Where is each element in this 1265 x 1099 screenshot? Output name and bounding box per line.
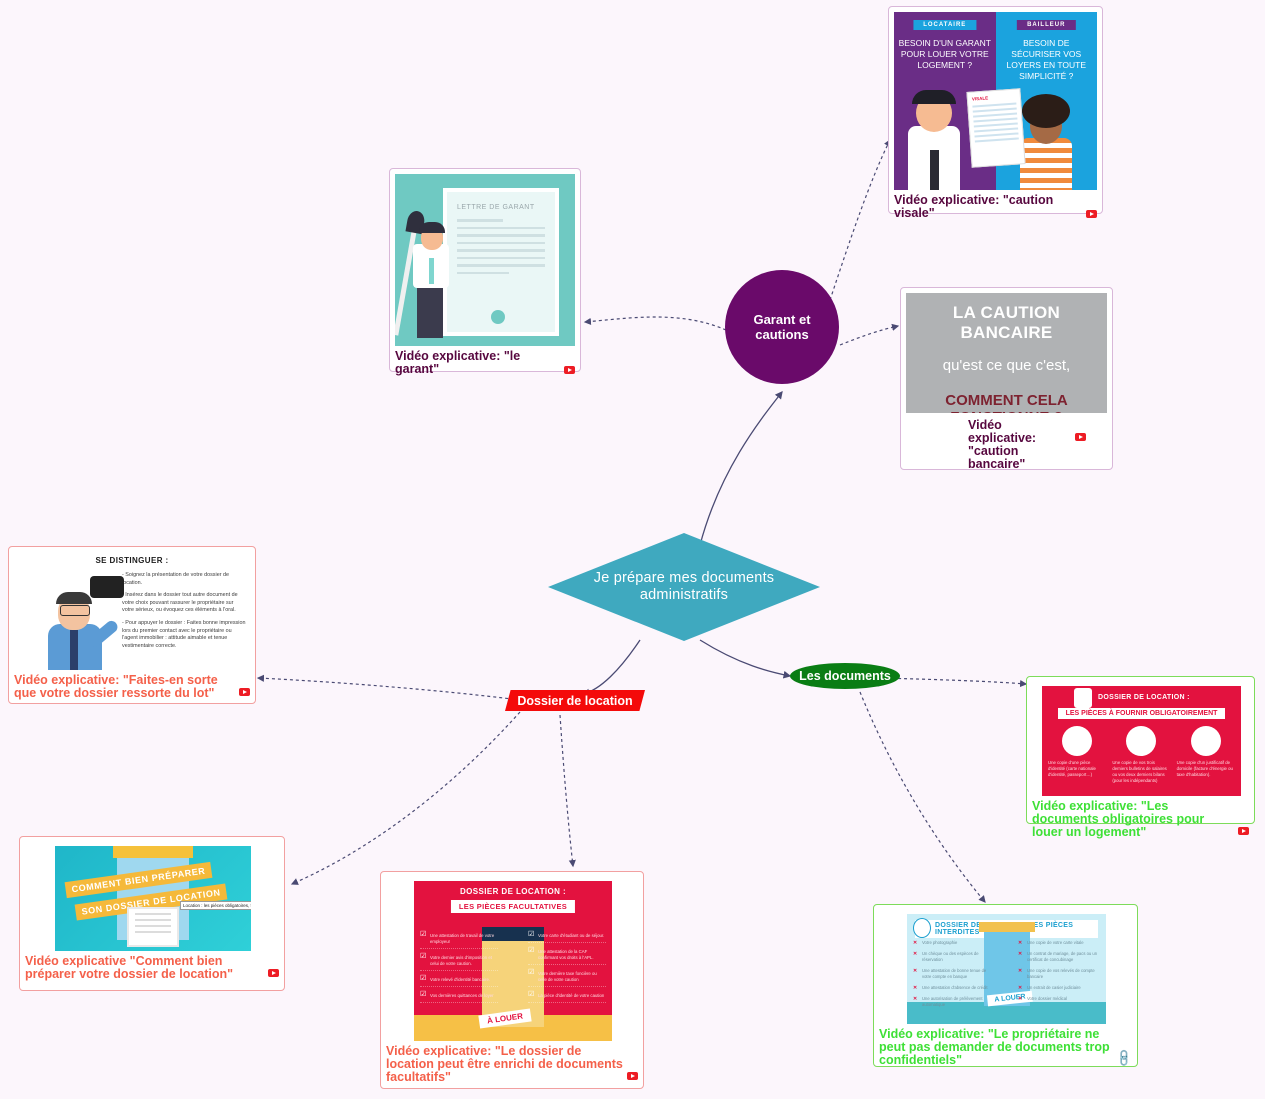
distinguer-bullet-2: - Insérez dans le dossier tout autre doc… <box>122 592 246 615</box>
card-caution-visale[interactable]: LOCATAIRE BESOIN D'UN GARANT POUR LOUER … <box>888 6 1103 214</box>
list-item: Un contrat de mariage, de pacs ou un cer… <box>1018 951 1100 963</box>
card-pieces-interdites[interactable]: DOSSIER DE LOCATION : LES PIÈCES INTERDI… <box>873 904 1138 1067</box>
edge-dossier-facultatives <box>560 715 573 866</box>
list-item: Votre dernier avis d'imposition et celui… <box>420 955 498 971</box>
list-item: Vos dernières quittances de loyer <box>420 993 498 1003</box>
visale-image: LOCATAIRE BESOIN D'UN GARANT POUR LOUER … <box>894 12 1097 190</box>
obligatoires-image: DOSSIER DE LOCATION : LES PIÈCES À FOURN… <box>1042 686 1241 796</box>
edge-dossier-preparer <box>292 712 520 884</box>
distinguer-caption: Vidéo explicative: "Faites-en sorte que … <box>14 674 250 700</box>
youtube-icon[interactable] <box>1238 827 1249 835</box>
visale-document: VISALE <box>966 88 1025 168</box>
garant-letter-title: LETTRE DE GARANT <box>457 204 555 211</box>
facultatives-caption: Vidéo explicative: "Le dossier de locati… <box>386 1045 638 1084</box>
edge-garant-visale <box>830 140 890 300</box>
edge-garant-lettre <box>585 317 726 330</box>
node-garant-label: Garant et cautions <box>725 312 839 342</box>
distinguer-bullets: - Soignez la présentation de votre dossi… <box>122 572 246 650</box>
clipboard-icon <box>127 907 179 947</box>
obligatoires-subtitle: LES PIÈCES À FOURNIR OBLIGATOIREMENT <box>1058 708 1225 719</box>
garant-man-legs <box>417 280 443 338</box>
node-garant-et-cautions[interactable]: Garant et cautions <box>725 270 839 384</box>
list-item: Une copie de vos trois derniers bulletin… <box>1112 726 1170 784</box>
bancaire-image: LA CAUTION BANCAIRE qu'est ce que c'est,… <box>906 293 1107 413</box>
list-item: Votre dernière taxe foncière ou celle de… <box>528 971 606 987</box>
interdites-right-column: Une copie de votre carte vitale Un contr… <box>1018 940 1100 1007</box>
garant-seal <box>491 310 505 324</box>
edge-documents-interdites <box>860 692 985 902</box>
list-item: Une copie de votre carte vitale <box>1018 940 1100 946</box>
interdites-left-column: Votre photographie Un chèque ou des espè… <box>913 940 995 1013</box>
visale-bailleur-tag: BAILLEUR <box>1017 20 1075 30</box>
edge-dossier-distinguer <box>258 678 520 700</box>
obligatoires-columns: Une copie d'une pièce d'identité (carte … <box>1048 726 1235 784</box>
edge-garant-bancaire <box>840 326 898 345</box>
facultatives-left-column: Une attestation de travail de votre empl… <box>420 933 498 1009</box>
youtube-icon[interactable] <box>627 1072 638 1080</box>
preparer-caption: Vidéo explicative "Comment bien préparer… <box>25 955 279 981</box>
mindmap-canvas: Je prépare mes documents administratifs … <box>0 0 1265 1099</box>
id-card-icon <box>1062 726 1092 756</box>
visale-locataire-tag: LOCATAIRE <box>913 20 976 30</box>
glasses-icon <box>60 605 90 616</box>
card-pieces-obligatoires[interactable]: DOSSIER DE LOCATION : LES PIÈCES À FOURN… <box>1026 676 1255 824</box>
visale-caption: Vidéo explicative: "caution visale" <box>894 194 1097 220</box>
card-se-distinguer[interactable]: SE DISTINGUER : - Soignez la présentatio… <box>8 546 256 704</box>
card-le-garant[interactable]: LETTRE DE GARANT Vidéo explicative: "le … <box>389 168 581 372</box>
bancaire-caption: Vidéo explicative: "caution bancaire" <box>968 419 1072 471</box>
node-dossier-label: Dossier de location <box>517 694 632 708</box>
home-icon <box>1191 726 1221 756</box>
edge-center-dossier <box>583 640 640 694</box>
garant-caption: Vidéo explicative: "le garant" <box>395 350 575 376</box>
youtube-icon[interactable] <box>268 969 279 977</box>
node-center[interactable]: Je prépare mes documents administratifs <box>548 533 820 641</box>
garant-image: LETTRE DE GARANT <box>395 174 575 346</box>
card-comment-bien-preparer[interactable]: COMMENT BIEN PRÉPARER SON DOSSIER DE LOC… <box>19 836 285 991</box>
card-caution-bancaire[interactable]: LA CAUTION BANCAIRE qu'est ce que c'est,… <box>900 287 1113 470</box>
node-center-label: Je prépare mes documents administratifs <box>548 570 820 604</box>
garant-man-tie <box>429 258 434 284</box>
visale-man-hair <box>912 90 956 104</box>
facultatives-right-column: Votre carte d'étudiant ou de séjour. Une… <box>528 933 606 1009</box>
obligatoires-title: DOSSIER DE LOCATION : <box>1098 694 1190 701</box>
list-item: Une attestation de la CAF confirmant vos… <box>528 949 606 965</box>
visale-left-text: BESOIN D'UN GARANT POUR LOUER VOTRE LOGE… <box>898 38 992 71</box>
list-item: Une attestation de bonne tenue de votre … <box>913 968 995 980</box>
distinguer-image: SE DISTINGUER : - Soignez la présentatio… <box>14 552 250 670</box>
distinguer-heading: SE DISTINGUER : <box>14 552 250 565</box>
person-tie <box>70 630 78 670</box>
list-item: Votre photographie <box>913 940 995 946</box>
interdites-caption: Vidéo explicative: "Le propriétaire ne p… <box>879 1028 1132 1067</box>
list-item: Votre carte d'étudiant ou de séjour. <box>528 933 606 943</box>
list-item: Une copie d'une pièce d'identité (carte … <box>1048 726 1106 784</box>
facultatives-banner: DOSSIER DE LOCATION : LES PIÈCES FACULTA… <box>420 887 606 914</box>
preparer-tooltip: Location : les pièces obligatoires, facu… <box>180 901 251 910</box>
link-icon[interactable]: 🔗 <box>1115 1049 1135 1069</box>
bancaire-line2: qu'est ce que c'est, <box>914 357 1099 374</box>
list-item: Votre relevé d'identité bancaire. <box>420 977 498 987</box>
hat-icon <box>90 576 124 598</box>
garant-man-hair <box>419 222 445 233</box>
edge-documents-obligatoires <box>880 678 1026 684</box>
youtube-icon[interactable] <box>1075 433 1086 441</box>
visale-document-label: VISALE <box>971 94 1015 102</box>
list-item: Une copie de vos relevés de compte banca… <box>1018 968 1100 980</box>
list-item: Votre dossier médical <box>1018 996 1100 1002</box>
person-hair <box>56 592 92 604</box>
clipboard-icon <box>913 918 931 938</box>
facultatives-image: DOSSIER DE LOCATION : LES PIÈCES FACULTA… <box>414 881 612 1041</box>
youtube-icon[interactable] <box>1086 210 1097 218</box>
bancaire-line3: COMMENT CELA FONCTIONNE ? <box>914 392 1099 413</box>
visale-man-tie <box>930 150 939 190</box>
interdites-image: DOSSIER DE LOCATION : LES PIÈCES INTERDI… <box>907 914 1106 1024</box>
list-item: Une copie d'un justificatif de domicile … <box>1177 726 1235 784</box>
facultatives-title: DOSSIER DE LOCATION : <box>420 887 606 896</box>
list-item: Une autorisation de prélèvement automati… <box>913 996 995 1008</box>
node-les-documents[interactable]: Les documents <box>790 663 900 689</box>
clipboard-icon <box>1074 688 1092 708</box>
obligatoires-caption: Vidéo explicative: "Les documents obliga… <box>1032 800 1249 839</box>
money-icon <box>1126 726 1156 756</box>
card-pieces-facultatives[interactable]: DOSSIER DE LOCATION : LES PIÈCES FACULTA… <box>380 871 644 1089</box>
visale-woman-shirt <box>1020 138 1072 190</box>
node-documents-label: Les documents <box>799 669 891 683</box>
distinguer-bullet-3: - Pour appuyer le dossier : Faites bonne… <box>122 620 246 650</box>
facultatives-subtitle: LES PIÈCES FACULTATIVES <box>451 900 575 913</box>
list-item: Une attestation d'absence de crédit <box>913 985 995 991</box>
node-dossier-de-location[interactable]: Dossier de location <box>505 690 645 711</box>
edge-center-garant <box>700 392 782 545</box>
youtube-icon[interactable] <box>239 688 250 696</box>
list-item: Un chèque ou des espèces de réservation <box>913 951 995 963</box>
edge-center-documents <box>700 640 790 676</box>
distinguer-bullet-1: - Soignez la présentation de votre dossi… <box>122 572 246 587</box>
bancaire-line1: LA CAUTION BANCAIRE <box>914 303 1099 343</box>
list-item: Un extrait de casier judiciaire <box>1018 985 1100 991</box>
list-item: Une attestation de travail de votre empl… <box>420 933 498 949</box>
youtube-icon[interactable] <box>564 366 575 374</box>
visale-woman-hair <box>1022 94 1070 128</box>
list-item: La pièce d'identité de votre caution <box>528 993 606 1003</box>
visale-right-text: BESOIN DE SÉCURISER VOS LOYERS EN TOUTE … <box>1000 38 1094 82</box>
preparer-image: COMMENT BIEN PRÉPARER SON DOSSIER DE LOC… <box>55 846 251 951</box>
